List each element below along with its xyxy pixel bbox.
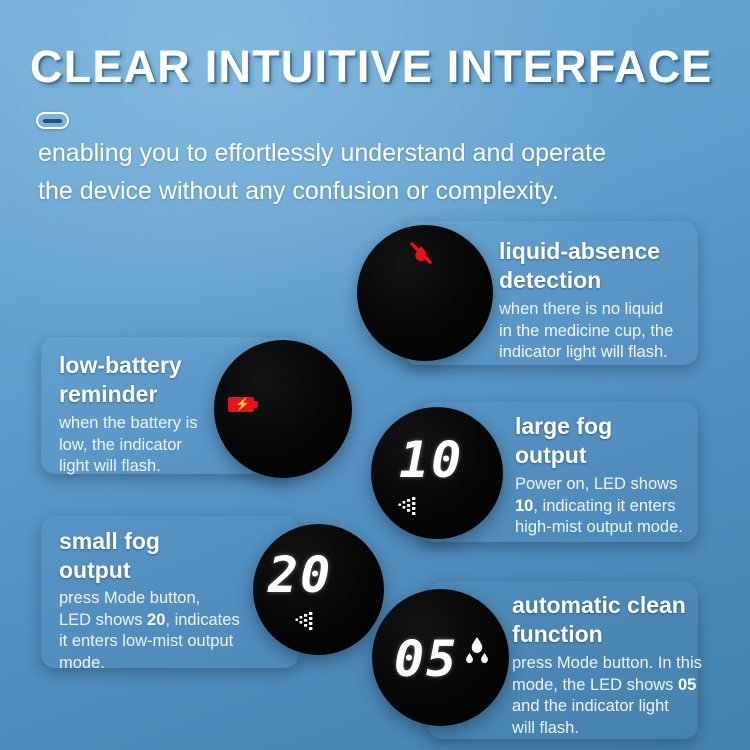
card-body-line-3: indicator light will flash.: [499, 342, 699, 364]
card-title-line-1: liquid-absence: [499, 237, 695, 266]
card-title: large fog output: [515, 412, 695, 470]
no-liquid-droplet-icon: [405, 237, 437, 269]
card-body-line-1: press Mode button,: [59, 588, 281, 610]
card-body-line-2: in the medicine cup, the: [499, 321, 699, 343]
device-display-small-fog[interactable]: 20: [253, 524, 384, 655]
card-title-line-2: function: [512, 620, 712, 649]
device-display-auto-clean[interactable]: 05: [372, 589, 509, 726]
card-body-line-4: mode.: [59, 653, 281, 675]
led-value-inline: 20: [147, 611, 165, 629]
device-display-low-battery[interactable]: ⚡: [214, 340, 352, 478]
card-body-line-2: 10, indicating it enters: [515, 496, 711, 518]
card-title-line-2: detection: [499, 266, 695, 295]
card-body-line-3: high-mist output mode.: [515, 517, 711, 539]
led-value-inline: 10: [515, 497, 533, 515]
card-body-line-1: press Mode button. In this: [512, 653, 722, 675]
card-title-line-1: small fog: [59, 527, 249, 556]
card-body: press Mode button, LED shows 20, indicat…: [59, 588, 281, 674]
card-title-line-2: output: [515, 441, 695, 470]
card-title-line-1: automatic clean: [512, 591, 712, 620]
lightning-bolt-glyph: ⚡: [235, 398, 250, 411]
card-body: Power on, LED shows 10, indicating it en…: [515, 474, 711, 539]
card-body-line-4: will flash.: [512, 718, 722, 740]
card-body-line-2: low, the indicator: [59, 435, 234, 457]
page-title: CLEAR INTUITIVE INTERFACE: [30, 38, 730, 96]
card-body-line-3: it enters low-mist output: [59, 631, 281, 653]
infographic-canvas: CLEAR INTUITIVE INTERFACE enabling you t…: [0, 0, 750, 750]
mist-spray-icon: [396, 493, 430, 523]
card-body-line-1: when there is no liquid: [499, 299, 699, 321]
led-readout: 10: [399, 435, 463, 485]
led-readout: 20: [268, 550, 332, 600]
page-subtitle: enabling you to effortlessly understand …: [38, 134, 678, 210]
card-body-line-2: mode, the LED shows 05: [512, 675, 722, 697]
card-body: press Mode button. In this mode, the LED…: [512, 653, 722, 739]
led-readout: 05: [394, 634, 458, 684]
card-body-line-3: and the indicator light: [512, 696, 722, 718]
battery-low-icon: ⚡: [228, 397, 254, 412]
water-droplets-clean-icon: [462, 635, 492, 667]
card-body-line-1: when the battery is: [59, 413, 234, 435]
card-body: when the battery is low, the indicator l…: [59, 413, 234, 478]
led-value-inline: 05: [678, 676, 696, 694]
card-title: small fog output: [59, 527, 249, 585]
card-body: when there is no liquid in the medicine …: [499, 299, 699, 364]
subtitle-line-1: enabling you to effortlessly understand …: [38, 134, 678, 172]
card-body-line-1: Power on, LED shows: [515, 474, 711, 496]
device-display-large-fog[interactable]: 10: [371, 407, 503, 539]
device-display-liquid-absence[interactable]: [357, 225, 493, 361]
mist-spray-icon: [293, 608, 327, 638]
card-title-line-2: output: [59, 556, 249, 585]
card-body-line-3: light will flash.: [59, 456, 234, 478]
dash-pill-icon: [36, 112, 69, 129]
card-title: automatic clean function: [512, 591, 712, 649]
card-body-line-2: LED shows 20, indicates: [59, 610, 281, 632]
card-title: liquid-absence detection: [499, 237, 695, 295]
subtitle-line-2: the device without any confusion or comp…: [38, 172, 678, 210]
card-title-line-1: large fog: [515, 412, 695, 441]
